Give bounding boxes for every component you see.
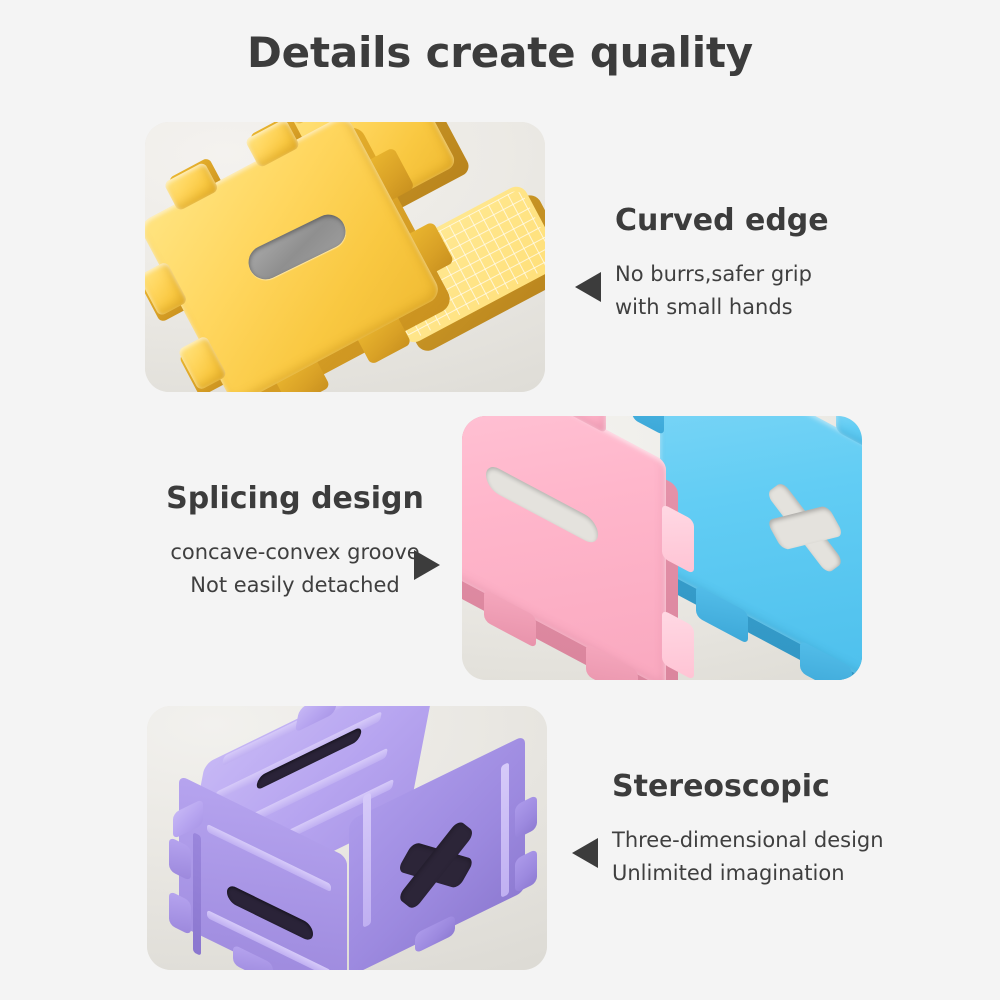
feature-text-curved-edge: Curved edge No burrs,safer grip with sma… <box>575 206 829 323</box>
feature-line-1: Three-dimensional design <box>612 824 884 857</box>
feature-text-stereoscopic: Stereoscopic Three-dimensional design Un… <box>572 772 884 889</box>
product-feature-page: Details create quality <box>0 0 1000 1000</box>
triangle-right-icon <box>414 550 440 580</box>
feature-title-splicing-design: Splicing design <box>150 484 440 514</box>
feature-title-curved-edge: Curved edge <box>615 206 829 236</box>
feature-image-curved-edge <box>145 122 545 392</box>
feature-description-curved-edge: No burrs,safer grip with small hands <box>615 258 829 323</box>
feature-line-2: with small hands <box>615 291 829 324</box>
pink-blue-brick-scene <box>462 416 862 680</box>
feature-title-stereoscopic: Stereoscopic <box>612 772 884 802</box>
feature-image-stereoscopic <box>147 706 547 970</box>
feature-description-splicing-design: concave-convex groove Not easily detache… <box>150 536 440 601</box>
feature-line-2: Not easily detached <box>150 569 440 602</box>
feature-line-1: No burrs,safer grip <box>615 258 829 291</box>
triangle-left-icon <box>575 272 601 302</box>
yellow-brick-scene <box>145 122 545 392</box>
feature-image-splicing-design <box>462 416 862 680</box>
triangle-left-icon <box>572 838 598 868</box>
purple-cube-scene <box>147 706 547 970</box>
feature-line-2: Unlimited imagination <box>612 857 884 890</box>
feature-text-splicing-design: Splicing design concave-convex groove No… <box>150 484 440 601</box>
feature-description-stereoscopic: Three-dimensional design Unlimited imagi… <box>612 824 884 889</box>
page-title: Details create quality <box>0 28 1000 77</box>
purple-cube <box>171 708 531 970</box>
feature-line-1: concave-convex groove <box>150 536 440 569</box>
